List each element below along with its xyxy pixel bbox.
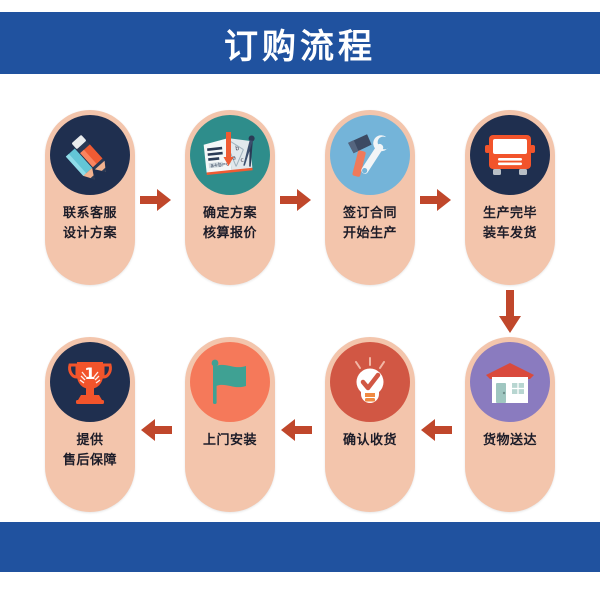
step-label-2: 确定方案 核算报价 (185, 204, 275, 244)
step-label-6: 确认收货 (325, 431, 415, 451)
step-card-2[interactable]: a+b=c b a c 确定 (185, 110, 275, 285)
house-icon (470, 342, 550, 422)
arrow-step4-step5 (498, 290, 522, 334)
arrow-step6-step7 (280, 418, 312, 442)
flowchart-canvas: 订购流程 (0, 0, 600, 593)
step-label-7: 上门安装 (185, 431, 275, 451)
step-label-5: 货物送达 (465, 431, 555, 451)
arrow-step7-step8 (140, 418, 172, 442)
blueprint-icon: a+b=c b a c (190, 115, 270, 195)
pencil-icon (50, 115, 130, 195)
flag-icon (190, 342, 270, 422)
arrow-step2-step3 (280, 188, 312, 212)
step-card-4[interactable]: 生产完毕 装车发货 (465, 110, 555, 285)
step-card-7[interactable]: 上门安装 (185, 337, 275, 512)
arrow-step3-step4 (420, 188, 452, 212)
lightbulb-check-icon (330, 342, 410, 422)
step-label-8: 提供 售后保障 (45, 431, 135, 471)
step-card-5[interactable]: 货物送达 (465, 337, 555, 512)
hammer-wrench-icon (330, 115, 410, 195)
step-label-1: 联系客服 设计方案 (45, 204, 135, 244)
page-title: 订购流程 (0, 12, 600, 74)
step-card-8[interactable]: 1 提供 售后保障 (45, 337, 135, 512)
trophy-icon: 1 (50, 342, 130, 422)
bottom-banner (0, 522, 600, 572)
step-label-4: 生产完毕 装车发货 (465, 204, 555, 244)
truck-icon (470, 115, 550, 195)
step-card-3[interactable]: 签订合同 开始生产 (325, 110, 415, 285)
step-card-6[interactable]: 确认收货 (325, 337, 415, 512)
step-label-3: 签订合同 开始生产 (325, 204, 415, 244)
trophy-badge-number: 1 (84, 364, 95, 383)
step-card-1[interactable]: 联系客服 设计方案 (45, 110, 135, 285)
arrow-step5-step6 (420, 418, 452, 442)
arrow-step1-step2 (140, 188, 172, 212)
title-banner: 订购流程 (0, 12, 600, 74)
